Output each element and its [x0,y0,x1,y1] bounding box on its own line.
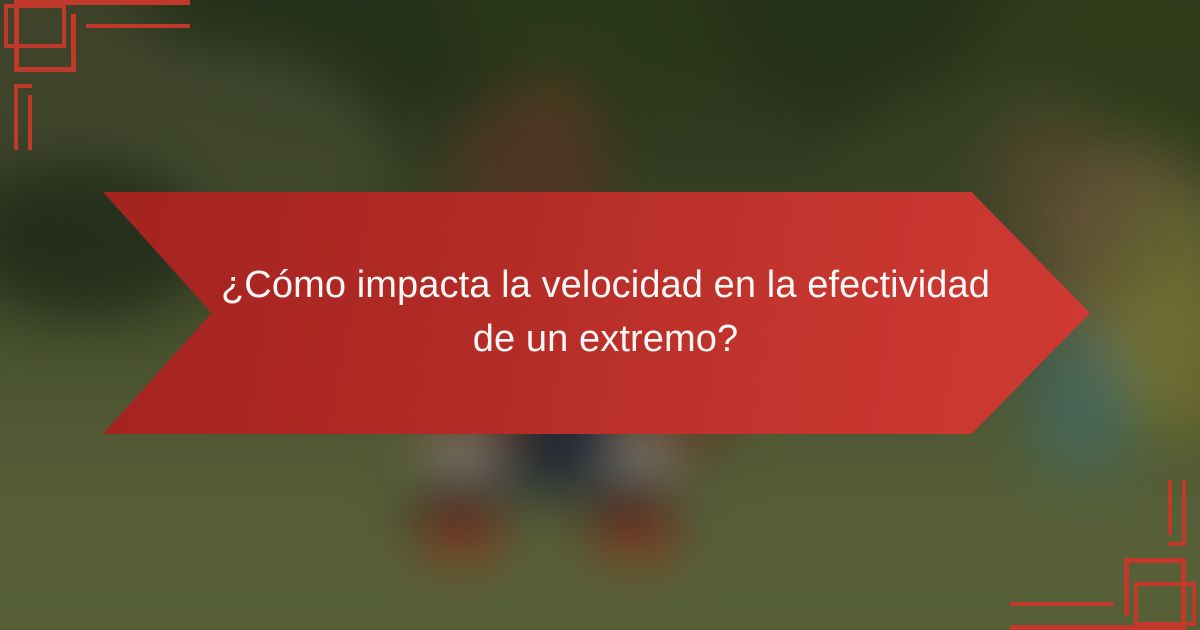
corner-square-bottom [1134,582,1196,586]
corner-outer-line-vertical-2 [1124,558,1129,616]
corner-outer-line-vertical [1181,558,1186,630]
corner-square-right [62,4,66,48]
corner-inner-line-vertical-2 [28,95,32,150]
corner-ornament-bottom-right [1010,480,1200,630]
corner-ornament-top-left [0,0,190,150]
corner-square-left [1192,582,1196,626]
corner-outer-line-horizontal-2 [14,67,76,72]
headline-banner: ¿Cómo impacta la velocidad en la efectiv… [103,192,1090,434]
corner-outer-line-vertical-2 [71,14,76,72]
page-title: ¿Cómo impacta la velocidad en la efectiv… [221,259,991,367]
corner-square-right [1134,582,1138,626]
corner-outer-line-vertical [14,0,19,72]
corner-outer-line-horizontal [1010,625,1186,630]
corner-square-left [4,4,8,48]
corner-inner-line-vertical [14,84,18,150]
corner-inner-line-vertical [1182,480,1186,546]
social-card: ¿Cómo impacta la velocidad en la efectiv… [0,0,1200,630]
corner-inner-line-horizontal [1010,602,1114,606]
corner-outer-line-horizontal-2 [1124,558,1186,563]
corner-inner-line-horizontal [86,24,190,28]
corner-outer-line-horizontal [14,0,190,5]
corner-inner-line-vertical-2 [1168,480,1172,535]
